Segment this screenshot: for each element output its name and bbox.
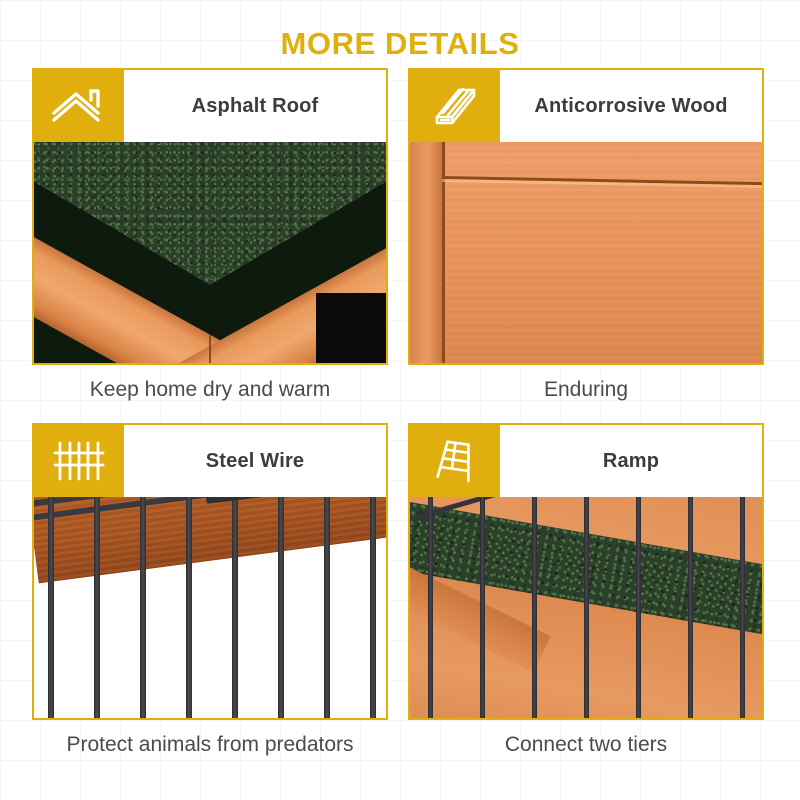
roof-icon bbox=[34, 70, 124, 142]
infographic-page: MORE DETAILS bbox=[0, 0, 800, 768]
feature-frame: Anticorrosive Wood bbox=[408, 68, 764, 365]
feature-header: Ramp bbox=[410, 425, 762, 497]
feature-card-asphalt-roof: Asphalt Roof Keep home dry and warm bbox=[32, 68, 388, 413]
wood-planks-icon bbox=[410, 70, 500, 142]
feature-header: Asphalt Roof bbox=[34, 70, 386, 142]
feature-card-steel-wire: Steel Wire Protect animals from predator… bbox=[32, 423, 388, 768]
feature-header: Anticorrosive Wood bbox=[410, 70, 762, 142]
feature-label: Steel Wire bbox=[124, 425, 386, 497]
ladder-icon bbox=[410, 425, 500, 497]
feature-label: Asphalt Roof bbox=[124, 70, 386, 142]
feature-card-anticorrosive-wood: Anticorrosive Wood Enduring bbox=[408, 68, 764, 413]
feature-label: Anticorrosive Wood bbox=[500, 70, 762, 142]
feature-header: Steel Wire bbox=[34, 425, 386, 497]
feature-frame: Steel Wire bbox=[32, 423, 388, 720]
page-title: MORE DETAILS bbox=[0, 0, 800, 68]
wire-mesh-icon bbox=[34, 425, 124, 497]
feature-caption: Connect two tiers bbox=[408, 722, 764, 768]
feature-caption: Enduring bbox=[408, 367, 764, 413]
feature-frame: Ramp bbox=[408, 423, 764, 720]
feature-label: Ramp bbox=[500, 425, 762, 497]
feature-caption: Keep home dry and warm bbox=[32, 367, 388, 413]
feature-grid: Asphalt Roof Keep home dry and warm bbox=[0, 68, 800, 768]
feature-caption: Protect animals from predators bbox=[32, 722, 388, 768]
feature-card-ramp: Ramp Connect two tiers bbox=[408, 423, 764, 768]
feature-frame: Asphalt Roof bbox=[32, 68, 388, 365]
